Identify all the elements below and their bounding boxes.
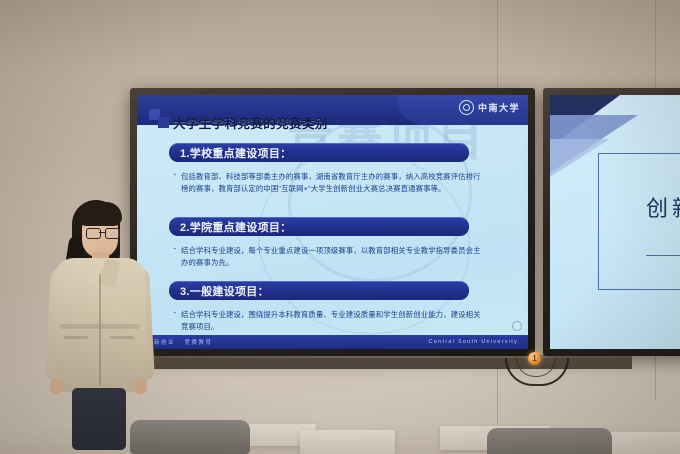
presenter-fringe [78,202,122,226]
screen-camera-dot [512,321,522,331]
section-heading-3: 3.一般建设项目： [169,281,469,300]
glasses-lens-left [86,228,101,239]
chair [487,428,612,454]
concentric-circle-icon [459,100,474,115]
display-right[interactable]: 创新 [543,88,680,356]
display-right-screen: 创新 [550,95,680,349]
section-heading-2: 2.学院重点建设项目： [169,217,469,236]
glasses-icon [86,228,119,237]
classroom-scene: 竞赛项目 中南大学 大学生学科竞赛的竞赛类别 1.学校重点建设项目： [0,0,680,454]
section-bullet-1: 包括教育部、科技部等部委主办的赛事，湖南省教育厅主办的赛事，纳入高校竞赛评估排行… [181,171,481,195]
university-logo-text: 中南大学 [478,101,520,114]
slide-right-title: 创新 [646,191,680,223]
presenter-hand-left [50,378,63,394]
slide-left: 竞赛项目 中南大学 大学生学科竞赛的竞赛类别 1.学校重点建设项目： [137,95,528,349]
desk [300,430,395,454]
slide-footer-right: Central South University [429,339,518,345]
presenter-hand-right [134,378,147,394]
section-heading-2-label: 2.学院重点建设项目： [169,219,291,235]
section-heading-3-label: 3.一般建设项目： [169,283,269,299]
section-heading-1-label: 1.学校重点建设项目： [169,145,291,161]
display-left[interactable]: 竞赛项目 中南大学 大学生学科竞赛的竞赛类别 1.学校重点建设项目： [130,88,535,356]
glasses-lens-right [105,228,120,239]
presenter [46,196,158,454]
slide-title: 大学生学科竞赛的竞赛类别 [173,113,328,132]
section-bullet-2: 结合学科专业建设，每个专业重点建设一项顶级赛事，以教育部相关专业教学指导委员会主… [181,245,481,269]
section-heading-1: 1.学校重点建设项目： [169,143,469,162]
slide-footer: 创新创业 · 竞赛教育 Central South University [137,335,528,349]
ceiling-shadow [0,0,680,70]
presenter-pocket-left [64,336,88,339]
display-left-screen: 竞赛项目 中南大学 大学生学科竞赛的竞赛类别 1.学校重点建设项目： [137,95,528,349]
slide-right-rule [646,255,680,256]
chair [130,420,250,454]
title-square-secondary [158,117,169,128]
university-logo: 中南大学 [459,100,520,115]
desk [610,432,680,454]
presenter-pocket-right [110,336,134,339]
presenter-legs [72,388,126,450]
section-bullet-3: 结合学科专业建设，围绕提升本科教育质量、专业建设质量和学生创新创业能力，建设相关… [181,309,481,333]
presenter-jacket-placket [99,274,101,386]
slide-right: 创新 [550,95,680,349]
presenter-jacket-waist [60,324,140,329]
